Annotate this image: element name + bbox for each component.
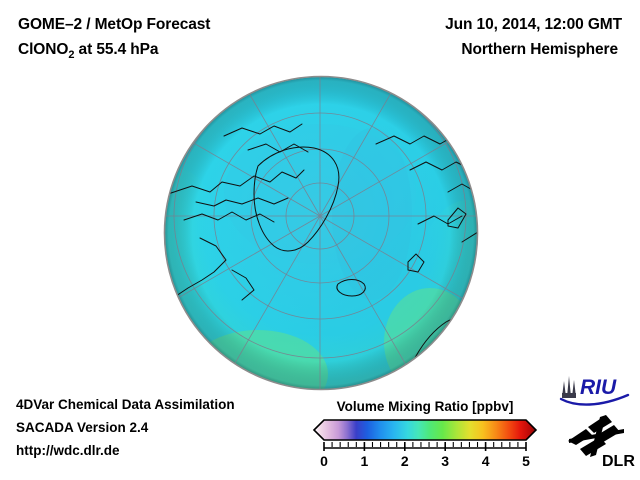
globe-orthographic-projection (162, 74, 480, 392)
colorbar-scale: 012345 (308, 418, 540, 470)
riu-wordmark: RIU (580, 376, 617, 399)
hemisphere-label: Northern Hemisphere (302, 37, 622, 62)
svg-text:1: 1 (361, 453, 369, 469)
species-label: ClONO (18, 41, 68, 58)
timestamp-label: Jun 10, 2014, 12:00 GMT (302, 12, 622, 37)
colorbar-tick-labels: 012345 (320, 453, 530, 469)
species-pressure-title: ClONO2 at 55.4 hPa (18, 37, 318, 68)
dlr-logo: DLR (566, 411, 636, 471)
concentration-field (162, 74, 480, 392)
globe-map-panel (162, 74, 480, 392)
svg-text:4: 4 (482, 453, 490, 469)
dlr-wordmark: DLR (602, 453, 635, 470)
colorbar-ticks (324, 442, 526, 451)
method-label: 4DVar Chemical Data Assimilation (16, 393, 306, 416)
svg-text:2: 2 (401, 453, 409, 469)
svg-text:3: 3 (441, 453, 449, 469)
svg-text:0: 0 (320, 453, 328, 469)
colorbar-gradient-bar (314, 420, 536, 440)
colorbar-block: Volume Mixing Ratio [ppbv] 012345 (308, 398, 540, 470)
header-left-block: GOME–2 / MetOp Forecast ClONO2 at 55.4 h… (18, 12, 318, 68)
instrument-title: GOME–2 / MetOp Forecast (18, 12, 318, 37)
footer-credits-block: 4DVar Chemical Data Assimilation SACADA … (16, 393, 306, 462)
riu-spire-icon (562, 376, 576, 398)
header-right-block: Jun 10, 2014, 12:00 GMT Northern Hemisph… (302, 12, 622, 62)
colorbar-title: Volume Mixing Ratio [ppbv] (310, 398, 540, 416)
svg-text:5: 5 (522, 453, 530, 469)
pressure-level-label: at 55.4 hPa (74, 41, 158, 58)
version-label: SACADA Version 2.4 (16, 416, 306, 439)
riu-logo: RIU (556, 371, 632, 407)
dlr-mark-icon (568, 415, 624, 457)
website-url: http://wdc.dlr.de (16, 439, 306, 462)
